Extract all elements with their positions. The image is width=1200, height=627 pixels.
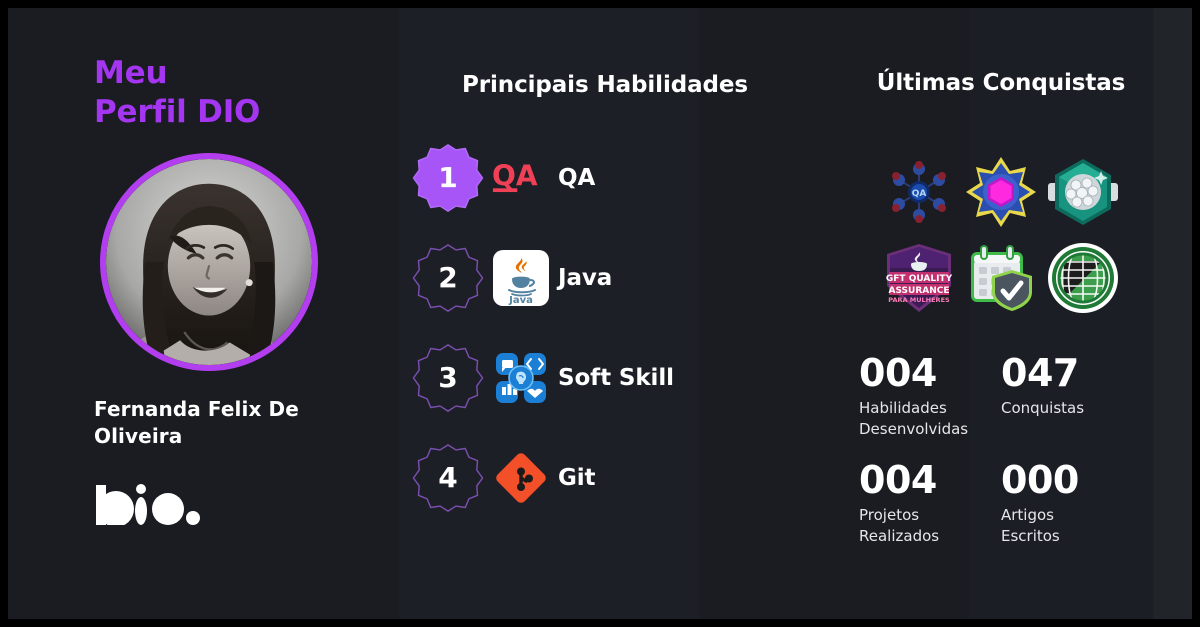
stat-label: Conquistas: [1001, 398, 1143, 419]
skills-list: 1 QA QA 2: [400, 128, 810, 528]
achievement-badge[interactable]: [961, 152, 1041, 232]
blue-star-magenta-hex-badge: [964, 155, 1038, 229]
gft-quality-assurance-para-mulheres-badge: GFT QUALITY ASSURANCE PARA MULHERES: [881, 242, 957, 314]
achievement-badge-grid: QA: [879, 152, 1123, 318]
rank-badge-1: 1: [412, 142, 484, 214]
svg-text:ASSURANCE: ASSURANCE: [888, 286, 949, 296]
achievement-badge[interactable]: [961, 238, 1041, 318]
skill-row[interactable]: 3: [412, 328, 810, 428]
achievements-column: Últimas Conquistas: [810, 8, 1192, 619]
skills-title: Principais Habilidades: [462, 72, 748, 98]
calendar-shield-check-badge: [964, 242, 1038, 314]
stat-value: 004: [859, 354, 1001, 394]
stat-label: Habilidades Desenvolvidas: [859, 398, 1001, 439]
skill-row[interactable]: 1 QA QA: [412, 128, 810, 228]
profile-photo: [106, 159, 312, 365]
stats-grid: 004 Habilidades Desenvolvidas 047 Conqui…: [859, 354, 1143, 547]
qa-logo-icon: QA: [492, 149, 550, 207]
avatar: [100, 153, 318, 371]
stat-value: 004: [859, 461, 1001, 501]
rank-number: 4: [438, 464, 457, 492]
svg-text:PARA MULHERES: PARA MULHERES: [888, 296, 950, 304]
soft-skill-icon: [492, 349, 550, 407]
skill-label: Git: [558, 465, 595, 491]
svg-text:QA: QA: [912, 189, 927, 199]
svg-text:GFT QUALITY: GFT QUALITY: [886, 274, 953, 284]
teal-hexagon-spheres-badge: [1046, 155, 1120, 229]
rank-number: 2: [438, 264, 457, 292]
qa-molecule-badge: QA: [882, 155, 956, 229]
profile-name: Fernanda Felix De Oliveira: [94, 396, 319, 450]
achievement-badge[interactable]: [1043, 238, 1123, 318]
page-title: Meu Perfil DIO: [94, 54, 400, 133]
stat-item: 047 Conquistas: [1001, 354, 1143, 439]
profile-card: Meu Perfil DIO: [8, 8, 1192, 619]
skill-label: Soft Skill: [558, 365, 674, 391]
skills-column: Principais Habilidades 1 QA: [400, 8, 810, 619]
stat-value: 000: [1001, 461, 1143, 501]
svg-text:Java: Java: [508, 295, 533, 306]
profile-column: Meu Perfil DIO: [8, 8, 400, 619]
achievement-badge[interactable]: [1043, 152, 1123, 232]
achievement-badge[interactable]: QA: [879, 152, 959, 232]
stat-item: 004 Projetos Realizados: [859, 461, 1001, 546]
rank-badge-2: 2: [412, 242, 484, 314]
stat-label: Artigos Escritos: [1001, 505, 1143, 546]
rank-badge-3: 3: [412, 342, 484, 414]
achievements-title: Últimas Conquistas: [877, 70, 1126, 96]
profile-card-canvas: Meu Perfil DIO: [0, 0, 1200, 627]
rank-number: 1: [438, 164, 457, 192]
rank-number: 3: [438, 364, 457, 392]
dio-logo: [94, 475, 202, 525]
skill-row[interactable]: 2 Java: [412, 228, 810, 328]
stat-item: 000 Artigos Escritos: [1001, 461, 1143, 546]
git-logo-icon: [492, 449, 550, 507]
stat-item: 004 Habilidades Desenvolvidas: [859, 354, 1001, 439]
skill-label: QA: [558, 165, 595, 191]
achievement-badge[interactable]: GFT QUALITY ASSURANCE PARA MULHERES: [879, 238, 959, 318]
java-logo-icon: Java: [492, 249, 550, 307]
stat-value: 047: [1001, 354, 1143, 394]
rank-badge-4: 4: [412, 442, 484, 514]
skill-label: Java: [558, 265, 612, 291]
svg-text:QA: QA: [492, 159, 538, 192]
green-globe-grid-badge: [1046, 241, 1120, 315]
stat-label: Projetos Realizados: [859, 505, 1001, 546]
skill-row[interactable]: 4: [412, 428, 810, 528]
